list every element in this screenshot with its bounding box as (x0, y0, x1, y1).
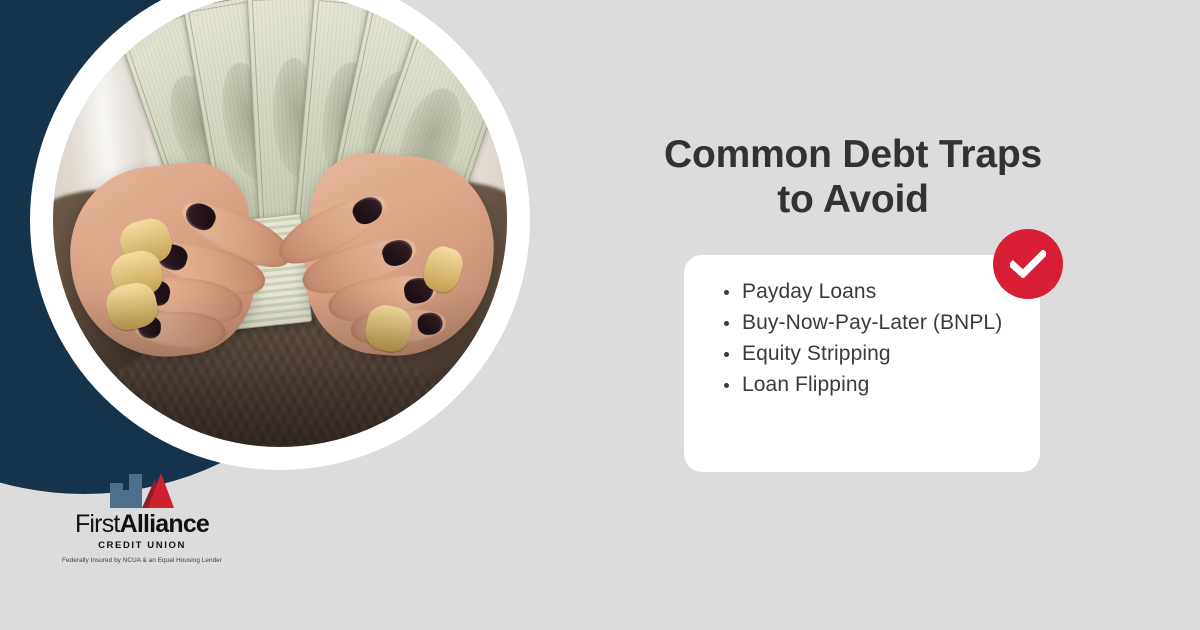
brand-logo: FirstAlliance CREDIT UNION (52, 470, 232, 551)
check-badge (993, 229, 1063, 299)
social-graphic-canvas: Common Debt Traps to Avoid Payday Loans … (0, 0, 1200, 630)
list-item: Loan Flipping (722, 370, 1018, 401)
logo-word-first: First (75, 510, 120, 538)
photo-vignette (53, 0, 507, 447)
debt-traps-list: Payday Loans Buy-Now-Pay-Later (BNPL) Eq… (722, 277, 1018, 400)
page-title: Common Debt Traps to Avoid (640, 132, 1066, 222)
logo-word-alliance: Alliance (120, 510, 209, 538)
hero-photo (53, 0, 507, 447)
ncua-disclosure: Federally Insured by NCUA & an Equal Hou… (52, 557, 232, 564)
list-item: Payday Loans (722, 277, 1018, 308)
buildings-mountain-icon (109, 470, 175, 508)
logo-subtitle: CREDIT UNION (52, 540, 232, 551)
check-icon (1010, 250, 1046, 278)
debt-traps-card: Payday Loans Buy-Now-Pay-Later (BNPL) Eq… (684, 255, 1040, 472)
page-title-line-2: to Avoid (777, 178, 929, 221)
page-title-line-1: Common Debt Traps (664, 133, 1042, 176)
list-item: Buy-Now-Pay-Later (BNPL) (722, 308, 1018, 339)
list-item: Equity Stripping (722, 339, 1018, 370)
photo-backdrop (53, 0, 507, 447)
logo-wordmark: FirstAlliance (52, 512, 232, 537)
